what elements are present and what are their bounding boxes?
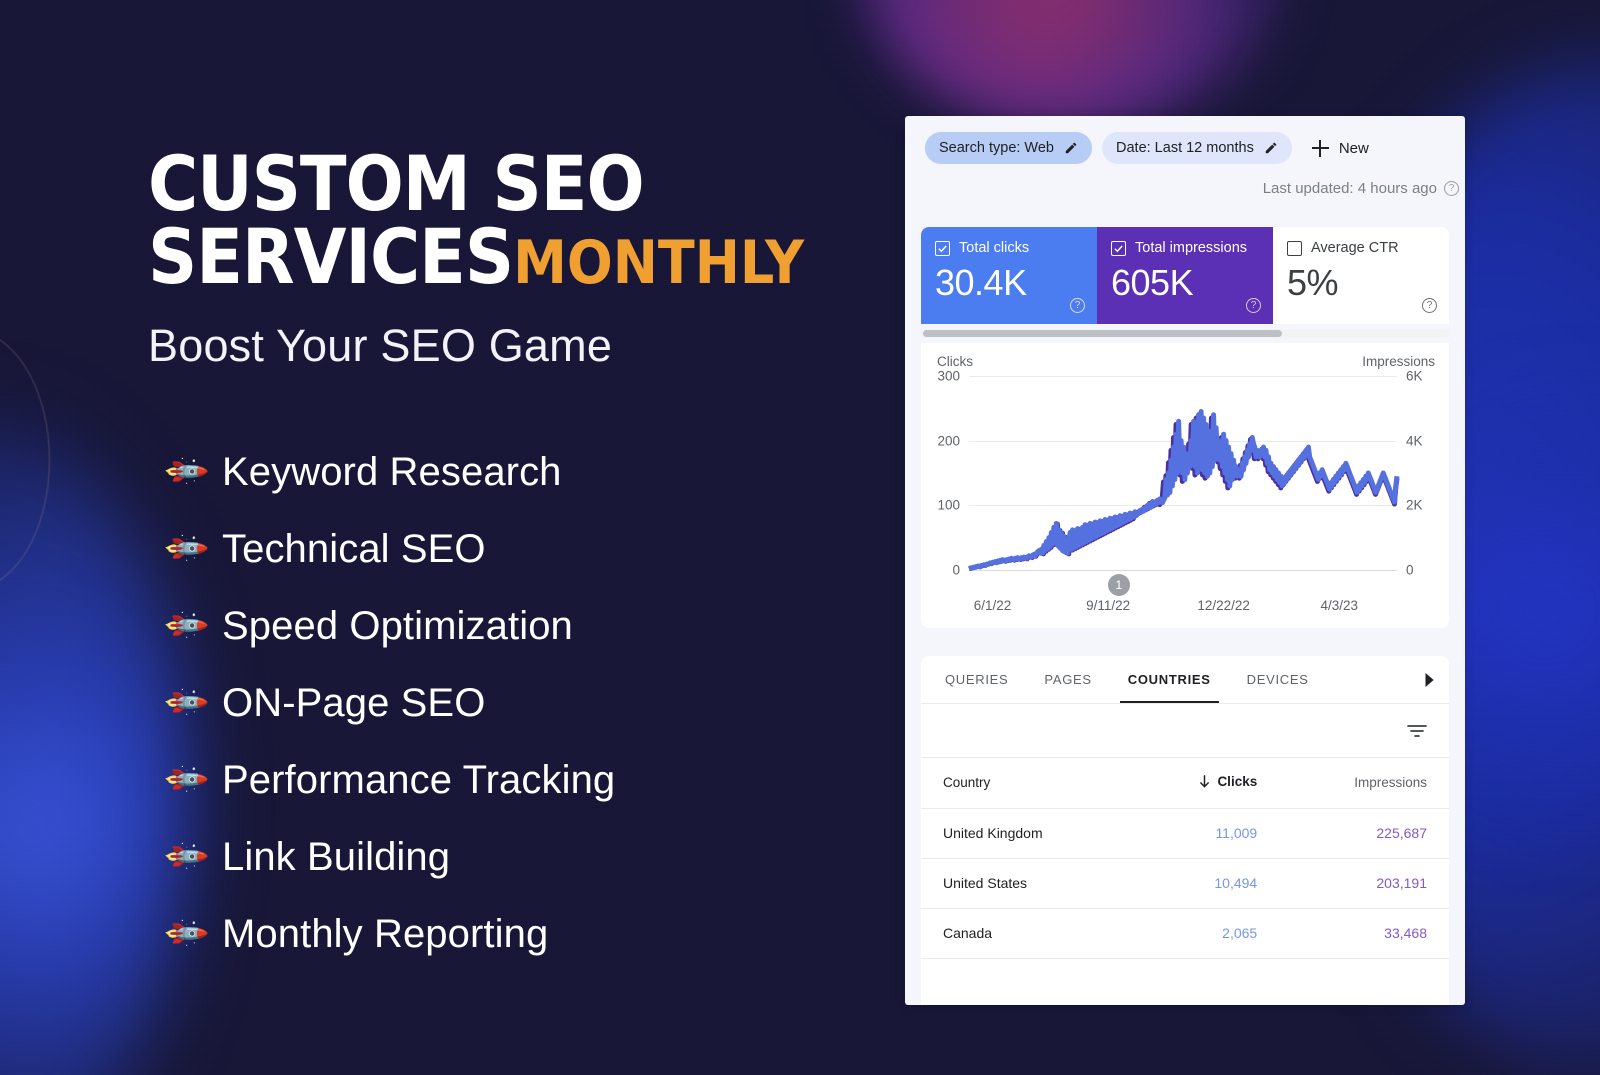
list-item: 🚀 Monthly Reporting	[148, 896, 848, 973]
metric-card-average-ctr[interactable]: Average CTR 5% ?	[1273, 227, 1449, 324]
rocket-icon: 🚀	[148, 458, 222, 487]
checkbox-checked-icon[interactable]	[935, 241, 950, 256]
column-header-impressions[interactable]: Impressions	[1279, 758, 1449, 808]
rocket-icon: 🚀	[148, 843, 222, 872]
tab-pages[interactable]: PAGES	[1026, 656, 1109, 703]
headline-accent: MONTHLY	[513, 228, 804, 298]
list-item-label: Monthly Reporting	[222, 912, 548, 957]
chart-plot-area: 001002K2004K3006K6/1/229/11/2212/22/224/…	[969, 376, 1397, 570]
cell-clicks: 11,009	[1130, 808, 1279, 858]
filter-chip-date[interactable]: Date: Last 12 months	[1102, 132, 1292, 164]
filter-chip-label: Date: Last 12 months	[1116, 140, 1254, 156]
chart-line-impressions	[969, 415, 1397, 569]
list-item-label: Performance Tracking	[222, 758, 615, 803]
arrow-down-icon	[1198, 775, 1211, 788]
dimension-tabs: QUERIES PAGES COUNTRIES DEVICES	[921, 656, 1449, 704]
checkbox-checked-icon[interactable]	[1111, 241, 1126, 256]
list-item: 🚀 Speed Optimization	[148, 588, 848, 665]
last-updated-label: Last updated: 4 hours ago	[1263, 180, 1437, 197]
list-item-label: Speed Optimization	[222, 604, 573, 649]
tab-devices[interactable]: DEVICES	[1229, 656, 1327, 703]
scrollbar-thumb[interactable]	[923, 330, 1282, 337]
plus-icon	[1312, 140, 1329, 157]
list-item: 🚀 Link Building	[148, 819, 848, 896]
metric-card-header: Average CTR	[1287, 240, 1435, 256]
performance-chart-card: Clicks Impressions 001002K2004K3006K6/1/…	[921, 343, 1449, 628]
cell-country: United Kingdom	[921, 808, 1130, 858]
table-row[interactable]: Canada 2,065 33,468	[921, 908, 1449, 958]
cell-impressions: 33,468	[1279, 908, 1449, 958]
new-button-label: New	[1339, 140, 1369, 157]
hero-content: CUSTOM SEO SERVICESMONTHLY Boost Your SE…	[148, 148, 848, 973]
chart-annotation-marker[interactable]: 1	[1108, 574, 1130, 596]
list-item-label: Technical SEO	[222, 527, 486, 572]
list-item-label: ON-Page SEO	[222, 681, 485, 726]
chart-x-tick-label: 12/22/22	[1197, 598, 1250, 613]
cell-impressions: 225,687	[1279, 808, 1449, 858]
countries-table: Country Clicks Impressions United Kingd	[921, 758, 1449, 959]
chart-y2-tick-label: 4K	[1406, 433, 1423, 448]
metric-card-label: Total impressions	[1135, 240, 1247, 256]
metric-card-total-impressions[interactable]: Total impressions 605K ?	[1097, 227, 1273, 324]
list-item: 🚀 Keyword Research	[148, 434, 848, 511]
rocket-icon: 🚀	[148, 920, 222, 949]
chart-y2-axis-label: Impressions	[1362, 354, 1435, 369]
filter-chip-search-type[interactable]: Search type: Web	[925, 132, 1092, 164]
filter-chip-label: Search type: Web	[939, 140, 1054, 156]
help-circle-icon[interactable]: ?	[1246, 298, 1261, 313]
list-item: 🚀 Technical SEO	[148, 511, 848, 588]
chevron-right-icon[interactable]	[1409, 656, 1449, 703]
chart-y-tick-label: 100	[937, 498, 960, 513]
cell-clicks: 10,494	[1130, 858, 1279, 908]
metric-cards: Total clicks 30.4K ? Total impressions 6…	[921, 227, 1449, 324]
metric-card-value: 5%	[1287, 262, 1435, 304]
table-row[interactable]: United States 10,494 203,191	[921, 858, 1449, 908]
rocket-icon: 🚀	[148, 766, 222, 795]
list-item: 🚀 Performance Tracking	[148, 742, 848, 819]
chart-y2-tick-label: 0	[1406, 563, 1414, 578]
metric-card-label: Total clicks	[959, 240, 1029, 256]
list-item: 🚀 ON-Page SEO	[148, 665, 848, 742]
chart-y-axis-label: Clicks	[937, 354, 973, 369]
chart-line-clicks	[969, 412, 1397, 569]
cell-country: Canada	[921, 908, 1130, 958]
search-console-dashboard-panel: Search type: Web Date: Last 12 months Ne…	[905, 116, 1465, 1005]
cell-clicks: 2,065	[1130, 908, 1279, 958]
table-row[interactable]: United Kingdom 11,009 225,687	[921, 808, 1449, 858]
feature-list: 🚀 Keyword Research 🚀 Technical SEO 🚀 Spe…	[148, 434, 848, 973]
filter-bar: Search type: Web Date: Last 12 months Ne…	[905, 116, 1465, 164]
cell-country: United States	[921, 858, 1130, 908]
metric-card-value: 605K	[1111, 262, 1259, 304]
chart-y-tick-label: 0	[952, 563, 960, 578]
chart-x-tick-label: 4/3/23	[1320, 598, 1358, 613]
dimension-table-card: QUERIES PAGES COUNTRIES DEVICES Country	[921, 656, 1449, 1005]
page-subtitle: Boost Your SEO Game	[148, 320, 848, 372]
tab-countries[interactable]: COUNTRIES	[1110, 656, 1229, 703]
column-header-clicks-label: Clicks	[1217, 774, 1257, 789]
last-updated-row: Last updated: 4 hours ago ?	[905, 164, 1465, 197]
chart-x-tick-label: 6/1/22	[974, 598, 1012, 613]
metric-card-header: Total clicks	[935, 240, 1083, 256]
rocket-icon: 🚀	[148, 689, 222, 718]
cell-impressions: 203,191	[1279, 858, 1449, 908]
help-circle-icon[interactable]: ?	[1070, 298, 1085, 313]
help-circle-icon[interactable]: ?	[1444, 181, 1459, 196]
table-filter-row	[921, 704, 1449, 758]
metric-card-header: Total impressions	[1111, 240, 1259, 256]
column-header-clicks[interactable]: Clicks	[1130, 758, 1279, 808]
metric-card-total-clicks[interactable]: Total clicks 30.4K ?	[921, 227, 1097, 324]
add-new-filter-button[interactable]: New	[1312, 140, 1369, 157]
pencil-icon	[1064, 141, 1078, 155]
page-title: CUSTOM SEO SERVICESMONTHLY	[148, 148, 848, 294]
horizontal-scrollbar[interactable]	[921, 329, 1449, 338]
list-item-label: Keyword Research	[222, 450, 562, 495]
chart-y2-tick-label: 6K	[1406, 369, 1423, 384]
column-header-country[interactable]: Country	[921, 758, 1130, 808]
chart-x-tick-label: 9/11/22	[1086, 598, 1130, 613]
table-header-row: Country Clicks Impressions	[921, 758, 1449, 808]
metric-card-label: Average CTR	[1311, 240, 1399, 256]
chart-y2-tick-label: 2K	[1406, 498, 1423, 513]
pencil-icon	[1264, 141, 1278, 155]
help-circle-icon[interactable]: ?	[1422, 298, 1437, 313]
chart-gridline	[969, 570, 1397, 571]
metric-card-value: 30.4K	[935, 262, 1083, 304]
rocket-icon: 🚀	[148, 535, 222, 564]
headline-line-2: SERVICES	[148, 212, 513, 301]
chart-series-layer	[969, 376, 1397, 570]
filter-icon[interactable]	[1407, 724, 1427, 738]
rocket-icon: 🚀	[148, 612, 222, 641]
chart-y-tick-label: 300	[937, 369, 960, 384]
checkbox-unchecked-icon[interactable]	[1287, 241, 1302, 256]
chart-y-tick-label: 200	[937, 433, 960, 448]
tab-queries[interactable]: QUERIES	[927, 656, 1026, 703]
list-item-label: Link Building	[222, 835, 450, 880]
